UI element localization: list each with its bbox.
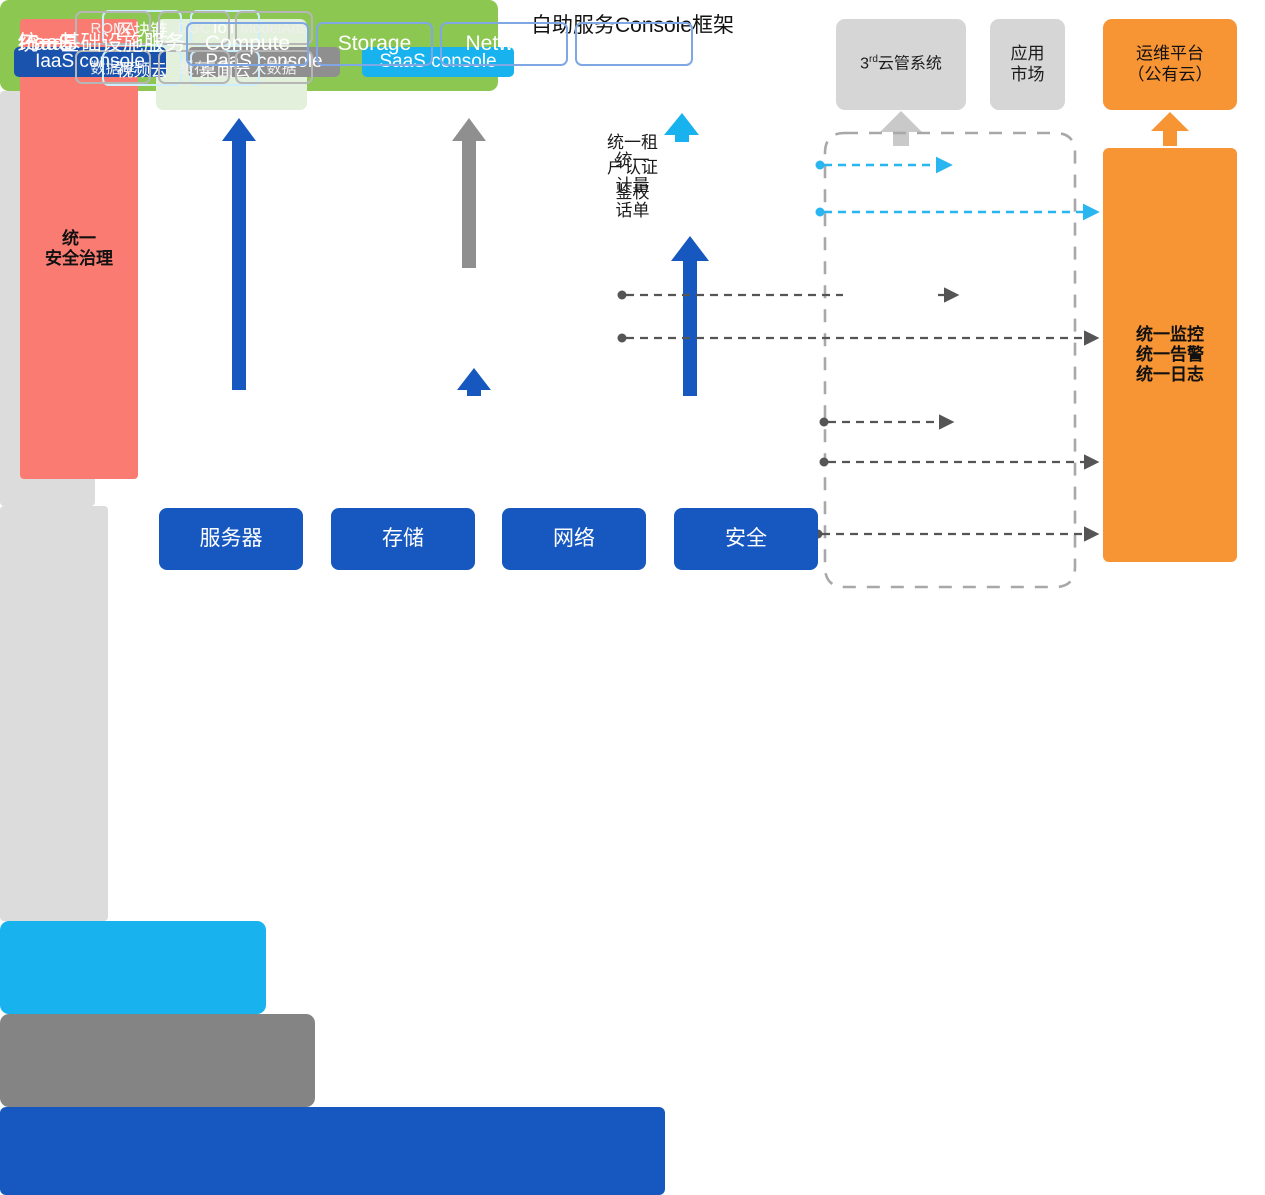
app-market-label: 应用 市场 [1011, 44, 1045, 84]
infra-pill-compute[interactable]: Compute [186, 22, 309, 66]
unified-infrastructure-bar[interactable]: 统一基础设施服务 Compute Storage Network CCE [0, 1107, 665, 1195]
infra-dashed-links [814, 418, 1096, 539]
unified-security-panel[interactable]: 统一 安全治理 [20, 19, 138, 479]
ops-detail-label: 统一监控 统一告警 统一日志 [1136, 325, 1204, 385]
hardware-box-security[interactable]: 安全 [674, 508, 818, 570]
paas-dashed-links [618, 291, 1096, 343]
hardware-box-network[interactable]: 网络 [502, 508, 646, 570]
infra-pill-network[interactable]: Network [440, 22, 568, 66]
ops-platform-box[interactable]: 运维平台 （公有云） [1103, 19, 1237, 110]
unified-security-label: 统一 安全治理 [45, 229, 113, 269]
hardware-box-server[interactable]: 服务器 [159, 508, 303, 570]
unified-metering-column[interactable]: 统一 计量 话单 [0, 506, 108, 921]
infra-pill-cce[interactable]: CCE [575, 22, 693, 66]
third-party-prefix: 3 [860, 56, 869, 73]
app-market-box[interactable]: 应用 市场 [990, 19, 1065, 110]
arrow-infra-to-paas [457, 368, 491, 396]
unified-infrastructure-label: 统一基础设施服务 [14, 27, 189, 57]
third-party-superscript: rd [869, 54, 878, 65]
third-party-suffix: 云管系统 [878, 56, 942, 73]
infra-pill-storage[interactable]: Storage [316, 22, 433, 66]
third-party-cloud-mgmt-label: 3rd云管系统 [860, 54, 942, 74]
arrow-infra-to-saas [671, 236, 709, 396]
third-party-cloud-mgmt-box[interactable]: 3rd云管系统 [836, 19, 966, 110]
saas-box[interactable]: SaaS 区块链 IoT 视频云 桌面云 [0, 921, 266, 1014]
architecture-diagram: 统一 安全治理 API网关 自助服务Console框架 IaaS console… [0, 0, 1265, 605]
ops-platform-label: 运维平台 （公有云） [1128, 44, 1213, 84]
paas-box[interactable]: PaaS ROMA DGC ModelArts 数据库 缓存 大数据 [0, 1014, 315, 1107]
unified-metering-label: 统一 计量 话单 [0, 146, 1265, 221]
hardware-box-storage[interactable]: 存储 [331, 508, 475, 570]
